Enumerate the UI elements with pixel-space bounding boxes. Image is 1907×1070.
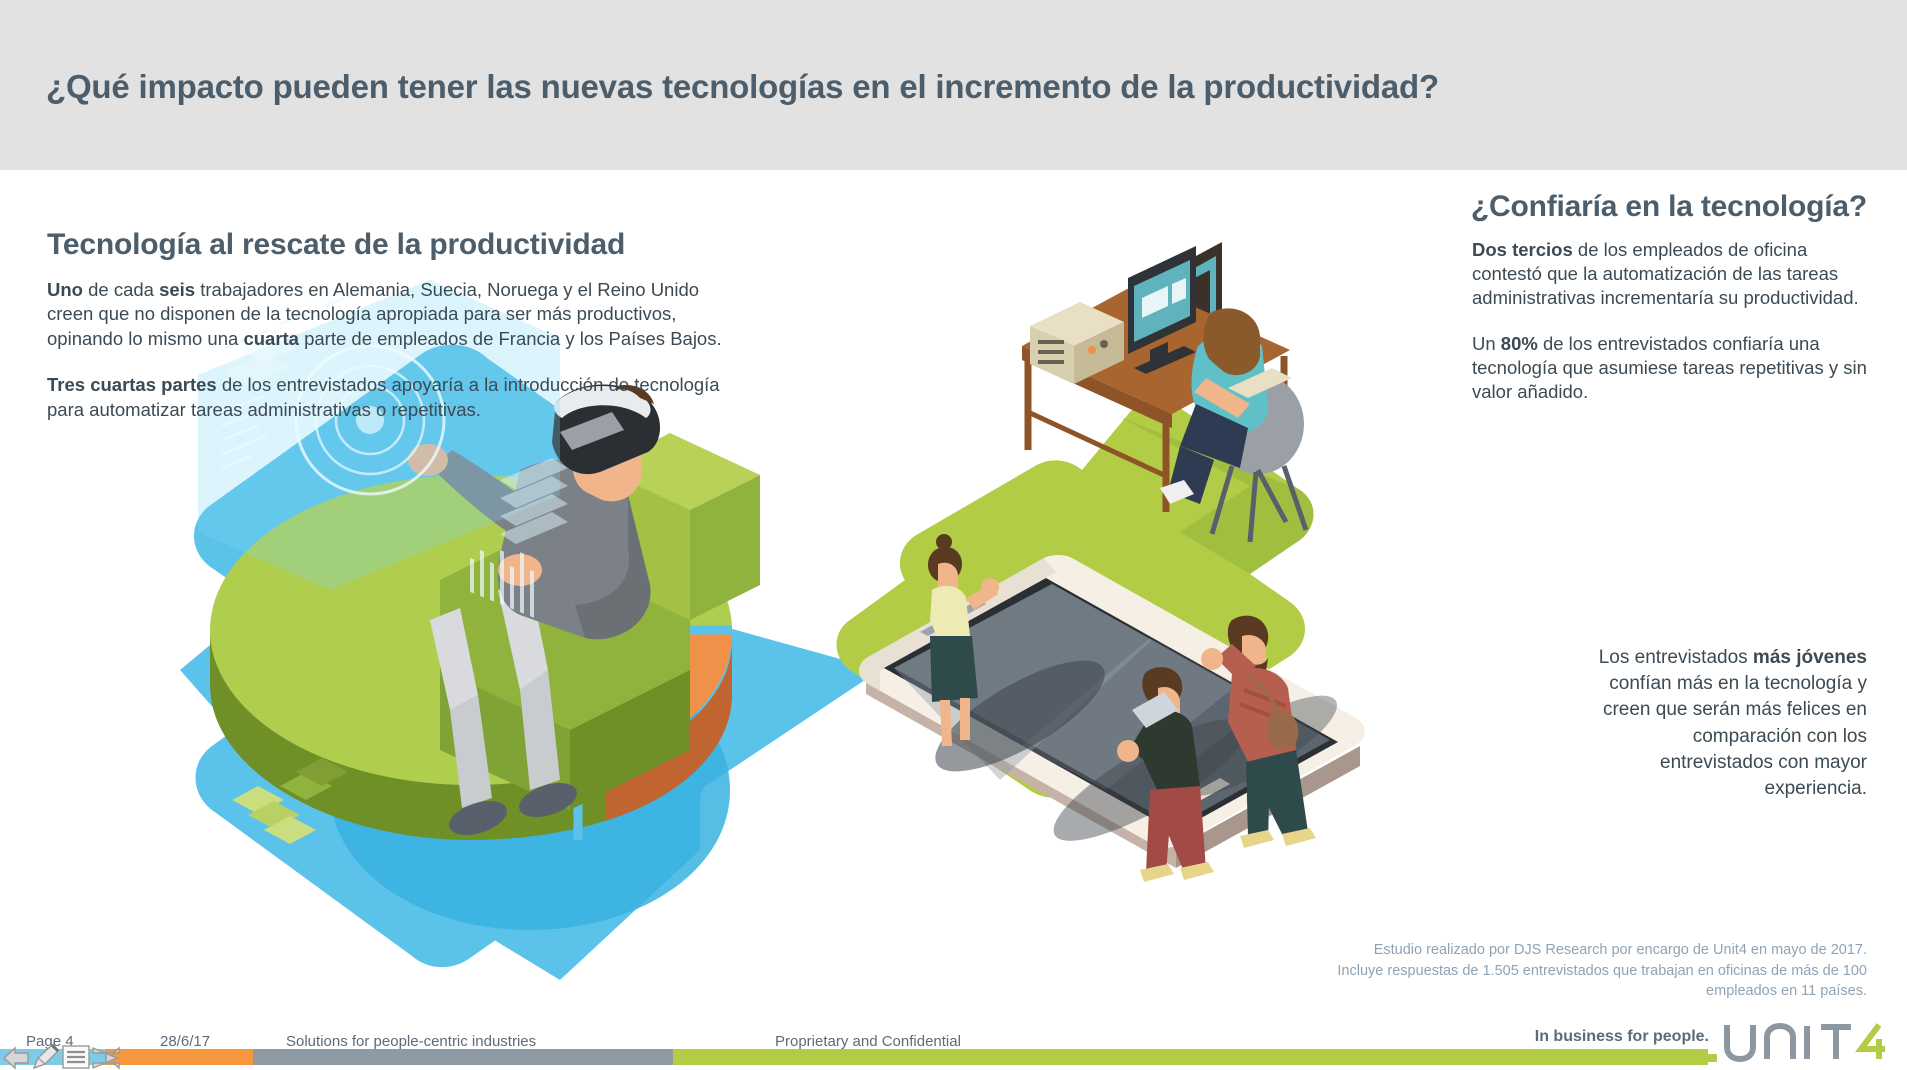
footer-bar-gray xyxy=(253,1049,673,1065)
right-text-column: Dos tercios de los empleados de oficina … xyxy=(1472,238,1867,404)
pencil-icon[interactable] xyxy=(34,1045,58,1068)
left-p1-bold-uno: Uno xyxy=(47,279,83,300)
nav-icon-toolbar[interactable] xyxy=(2,1042,126,1070)
left-p1-t3: parte de empleados de Francia y los País… xyxy=(299,328,722,349)
left-p1-bold-cuarta: cuarta xyxy=(243,328,299,349)
footer-tagline: In business for people. xyxy=(1535,1028,1709,1046)
right-p2-bold-80: 80% xyxy=(1501,333,1538,354)
quote-t0: Los entrevistados xyxy=(1599,647,1753,668)
quote-t1: confían más en la tecnología y creen que… xyxy=(1603,673,1867,799)
footer-bar-green xyxy=(673,1049,1708,1065)
right-quote-block: Los entrevistados más jóvenes confían má… xyxy=(1577,645,1867,802)
left-heading: Tecnología al rescate de la productivida… xyxy=(47,228,727,262)
right-p2-t0: Un xyxy=(1472,333,1501,354)
page-title: ¿Qué impacto pueden tener las nuevas tec… xyxy=(46,68,1439,106)
lines-menu-icon[interactable] xyxy=(63,1046,89,1068)
right-p1-bold: Dos tercios xyxy=(1472,239,1573,260)
left-paragraph-2: Tres cuartas partes de los entrevistados… xyxy=(47,373,727,422)
left-paragraph-1: Uno de cada seis trabajadores en Alemani… xyxy=(47,278,727,351)
footer-confidential-text: Proprietary and Confidential xyxy=(775,1033,961,1050)
forward-arrow-icon[interactable] xyxy=(93,1048,119,1068)
slide-canvas: ¿Qué impacto pueden tener las nuevas tec… xyxy=(0,0,1907,1070)
footer-solutions-text: Solutions for people-centric industries xyxy=(286,1033,536,1050)
paragraph-spacer-right xyxy=(1472,310,1867,332)
right-heading: ¿Confiaría en la tecnología? xyxy=(1471,190,1867,224)
footer-bar-orange xyxy=(105,1049,253,1065)
paragraph-spacer xyxy=(47,351,727,373)
left-p2-bold: Tres cuartas partes xyxy=(47,374,217,395)
left-text-column: Tecnología al rescate de la productivida… xyxy=(47,228,727,422)
source-footnote: Estudio realizado por DJS Research por e… xyxy=(1337,940,1867,1002)
left-p1-bold-seis: seis xyxy=(159,279,195,300)
left-p1-t1: de cada xyxy=(83,279,159,300)
right-paragraph-1: Dos tercios de los empleados de oficina … xyxy=(1472,238,1867,310)
quote-bold-jovenes: más jóvenes xyxy=(1753,647,1867,668)
back-arrow-icon[interactable] xyxy=(4,1048,28,1068)
right-paragraph-2: Un 80% de los entrevistados confiaría un… xyxy=(1472,332,1867,404)
unit4-logo xyxy=(1719,1019,1889,1065)
footer-date: 28/6/17 xyxy=(160,1033,210,1050)
